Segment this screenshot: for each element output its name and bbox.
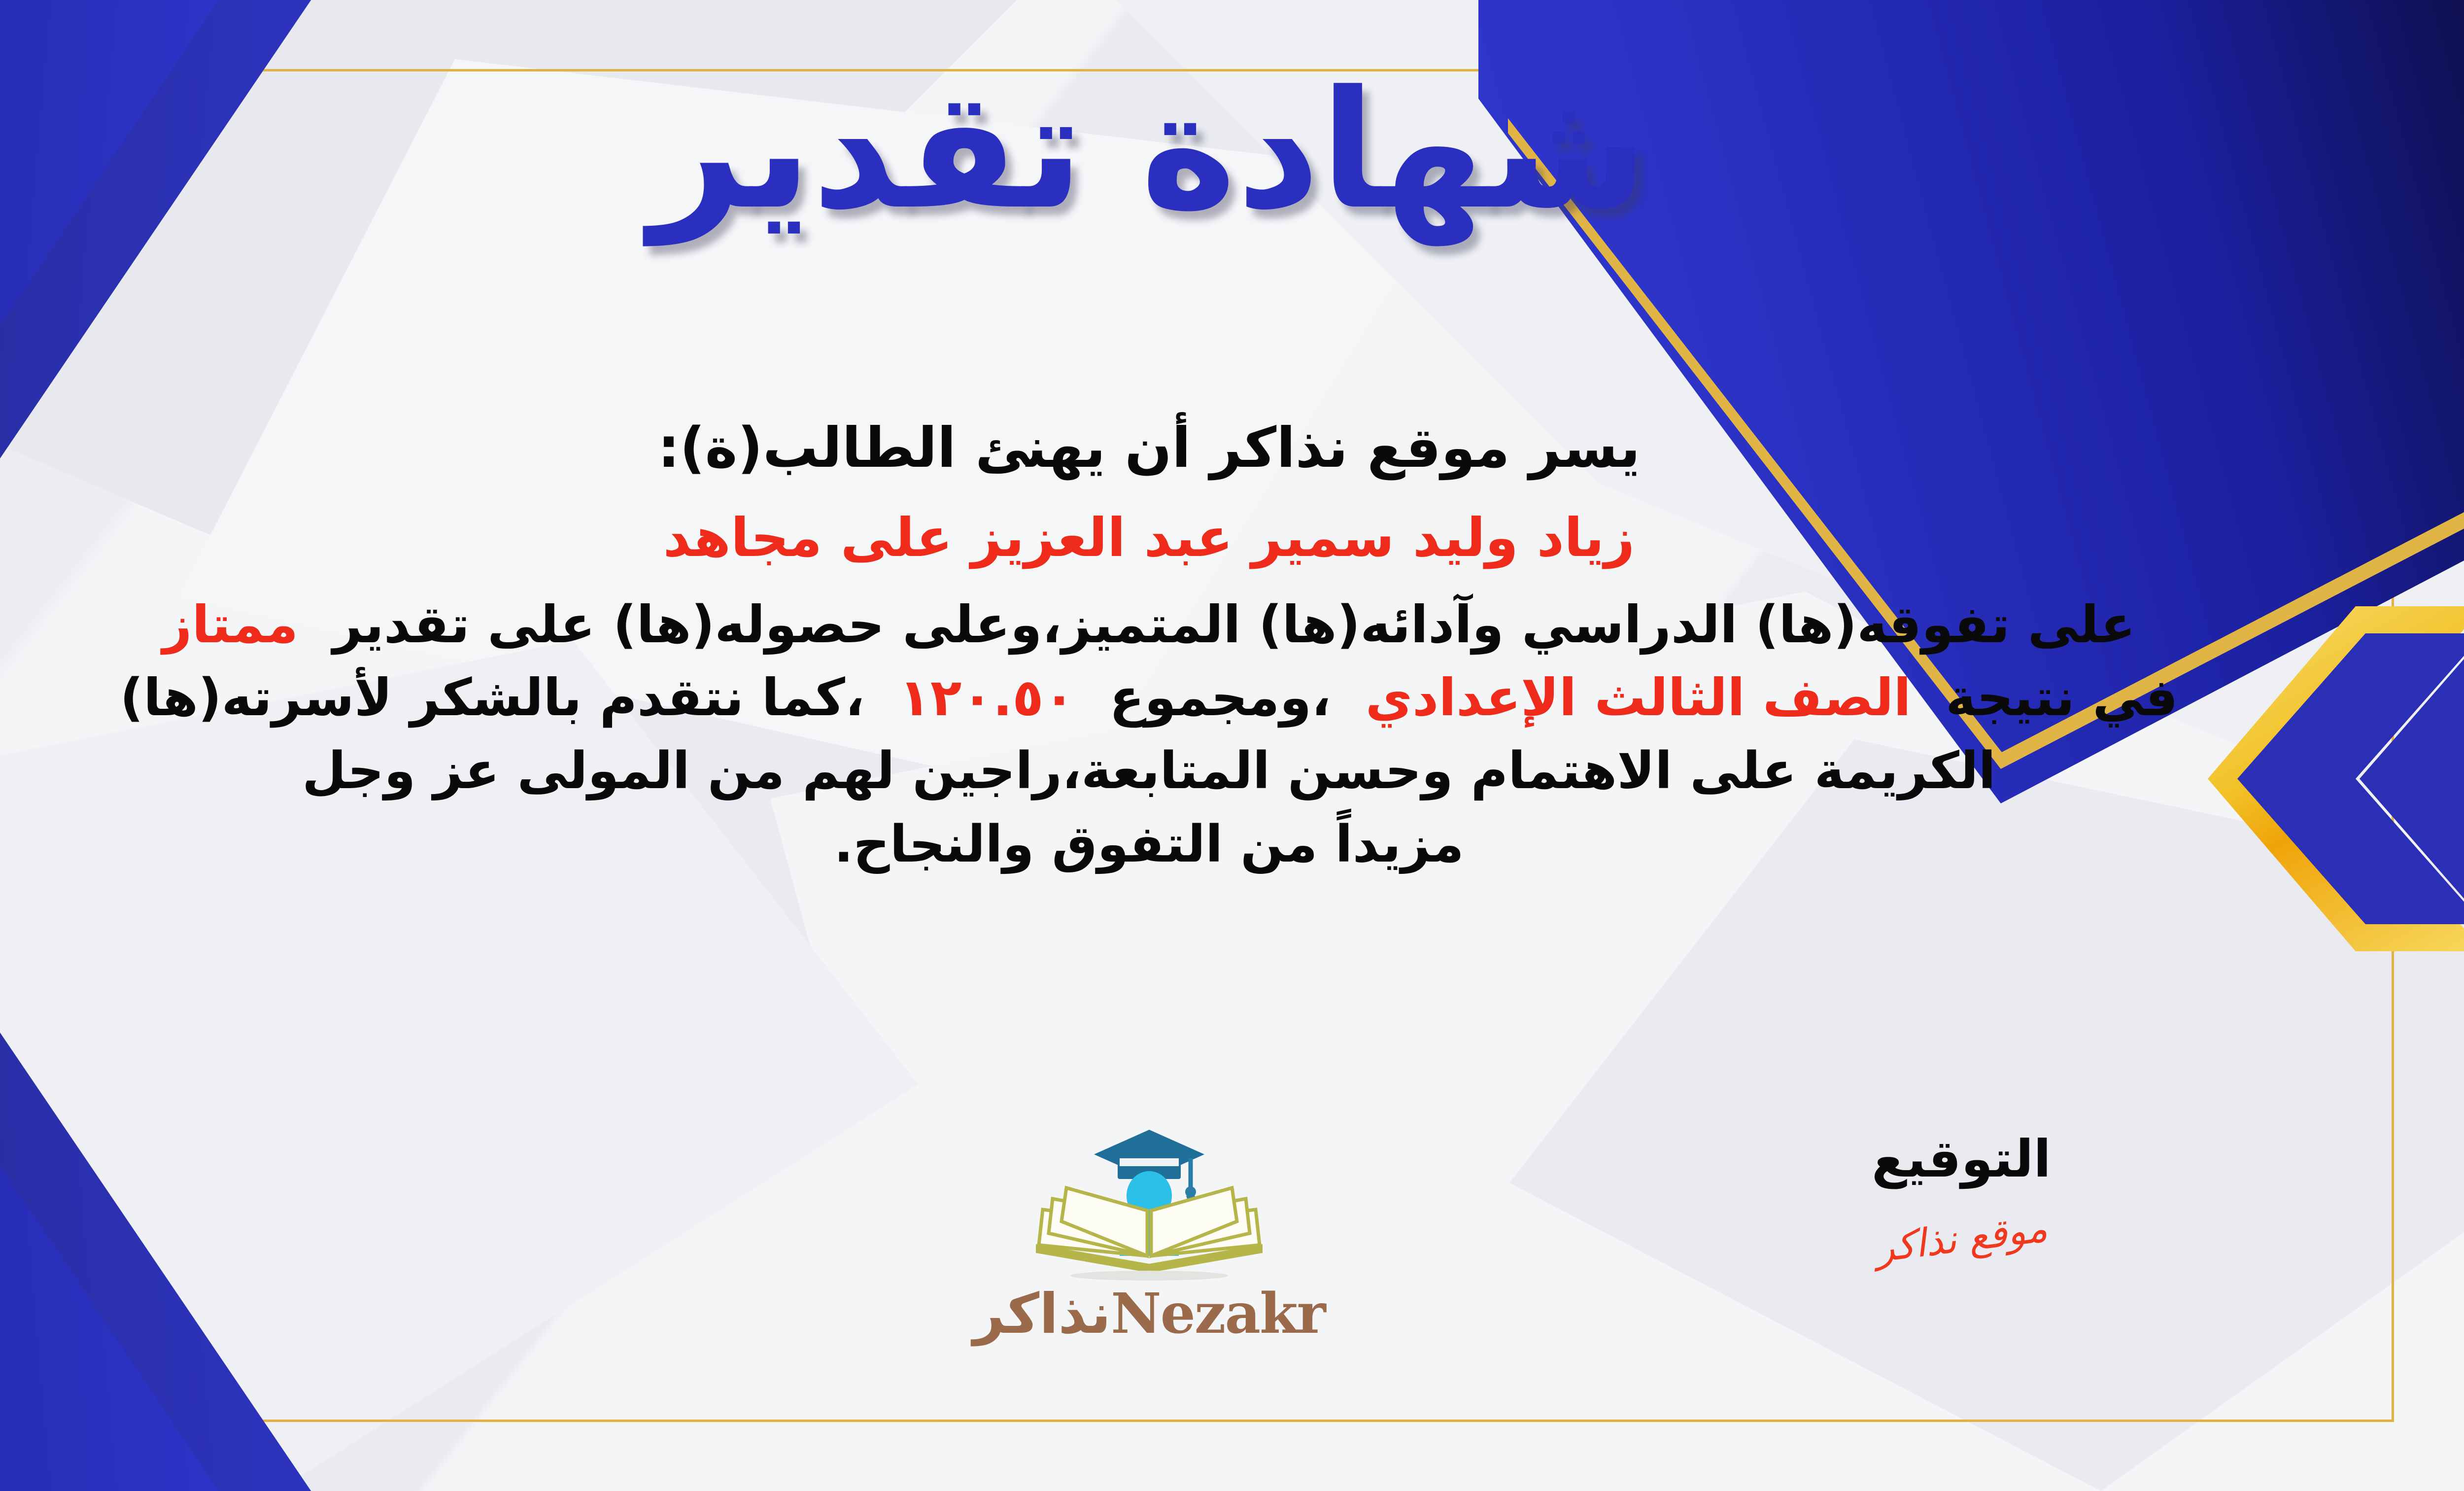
- certificate-canvas: شهادة تقدير يسر موقع نذاكر أن يهنئ الطال…: [0, 0, 2464, 1491]
- achievement-line: على تفوقه(ها) الدراسي وآدائه(ها) المتميز…: [0, 589, 2336, 661]
- thanks-text: ،كما نتقدم بالشكر لأسرته(ها): [120, 667, 864, 728]
- intro-line: يسر موقع نذاكر أن يهنئ الطالب(ة):: [0, 409, 2336, 487]
- signature-mark: موقع نذاكر: [1873, 1206, 2050, 1271]
- grade-value: ممتاز: [163, 594, 299, 655]
- signature-label: التوقيع: [1833, 1129, 2089, 1189]
- signature-block: التوقيع موقع نذاكر: [1833, 1129, 2089, 1261]
- student-name: زياد وليد سمير عبد العزيز على مجاهد: [0, 487, 2336, 589]
- certificate-content: شهادة تقدير يسر موقع نذاكر أن يهنئ الطال…: [0, 0, 2464, 1491]
- brand-latin: Nezakr: [1111, 1282, 1325, 1346]
- certificate-title: شهادة تقدير: [0, 69, 2464, 232]
- brand-arabic: نذاكر: [973, 1282, 1111, 1346]
- brand-logo: Nezakrنذاكر: [967, 1124, 1332, 1346]
- brand-text: Nezakrنذاكر: [967, 1282, 1332, 1346]
- class-value: الصف الثالث الإعدادي: [1366, 667, 1911, 728]
- result-line: في نتيجةالصف الثالث الإعدادي،ومجموع١٢٠.٥…: [0, 661, 2336, 734]
- achievement-text: على تفوقه(ها) الدراسي وآدائه(ها) المتميز…: [333, 594, 2135, 655]
- total-score-value: ١٢٠.٥٠: [899, 667, 1075, 728]
- closing-line: مزيداً من التفوق والنجاح.: [0, 808, 2336, 881]
- total-label: ،ومجموع: [1109, 667, 1331, 728]
- result-prefix: في نتيجة: [1946, 667, 2178, 728]
- graduate-book-icon: [1021, 1124, 1277, 1286]
- family-thanks-line: الكريمة على الاهتمام وحسن المتابعة،راجين…: [0, 734, 2336, 808]
- certificate-body: يسر موقع نذاكر أن يهنئ الطالب(ة): زياد و…: [0, 409, 2336, 881]
